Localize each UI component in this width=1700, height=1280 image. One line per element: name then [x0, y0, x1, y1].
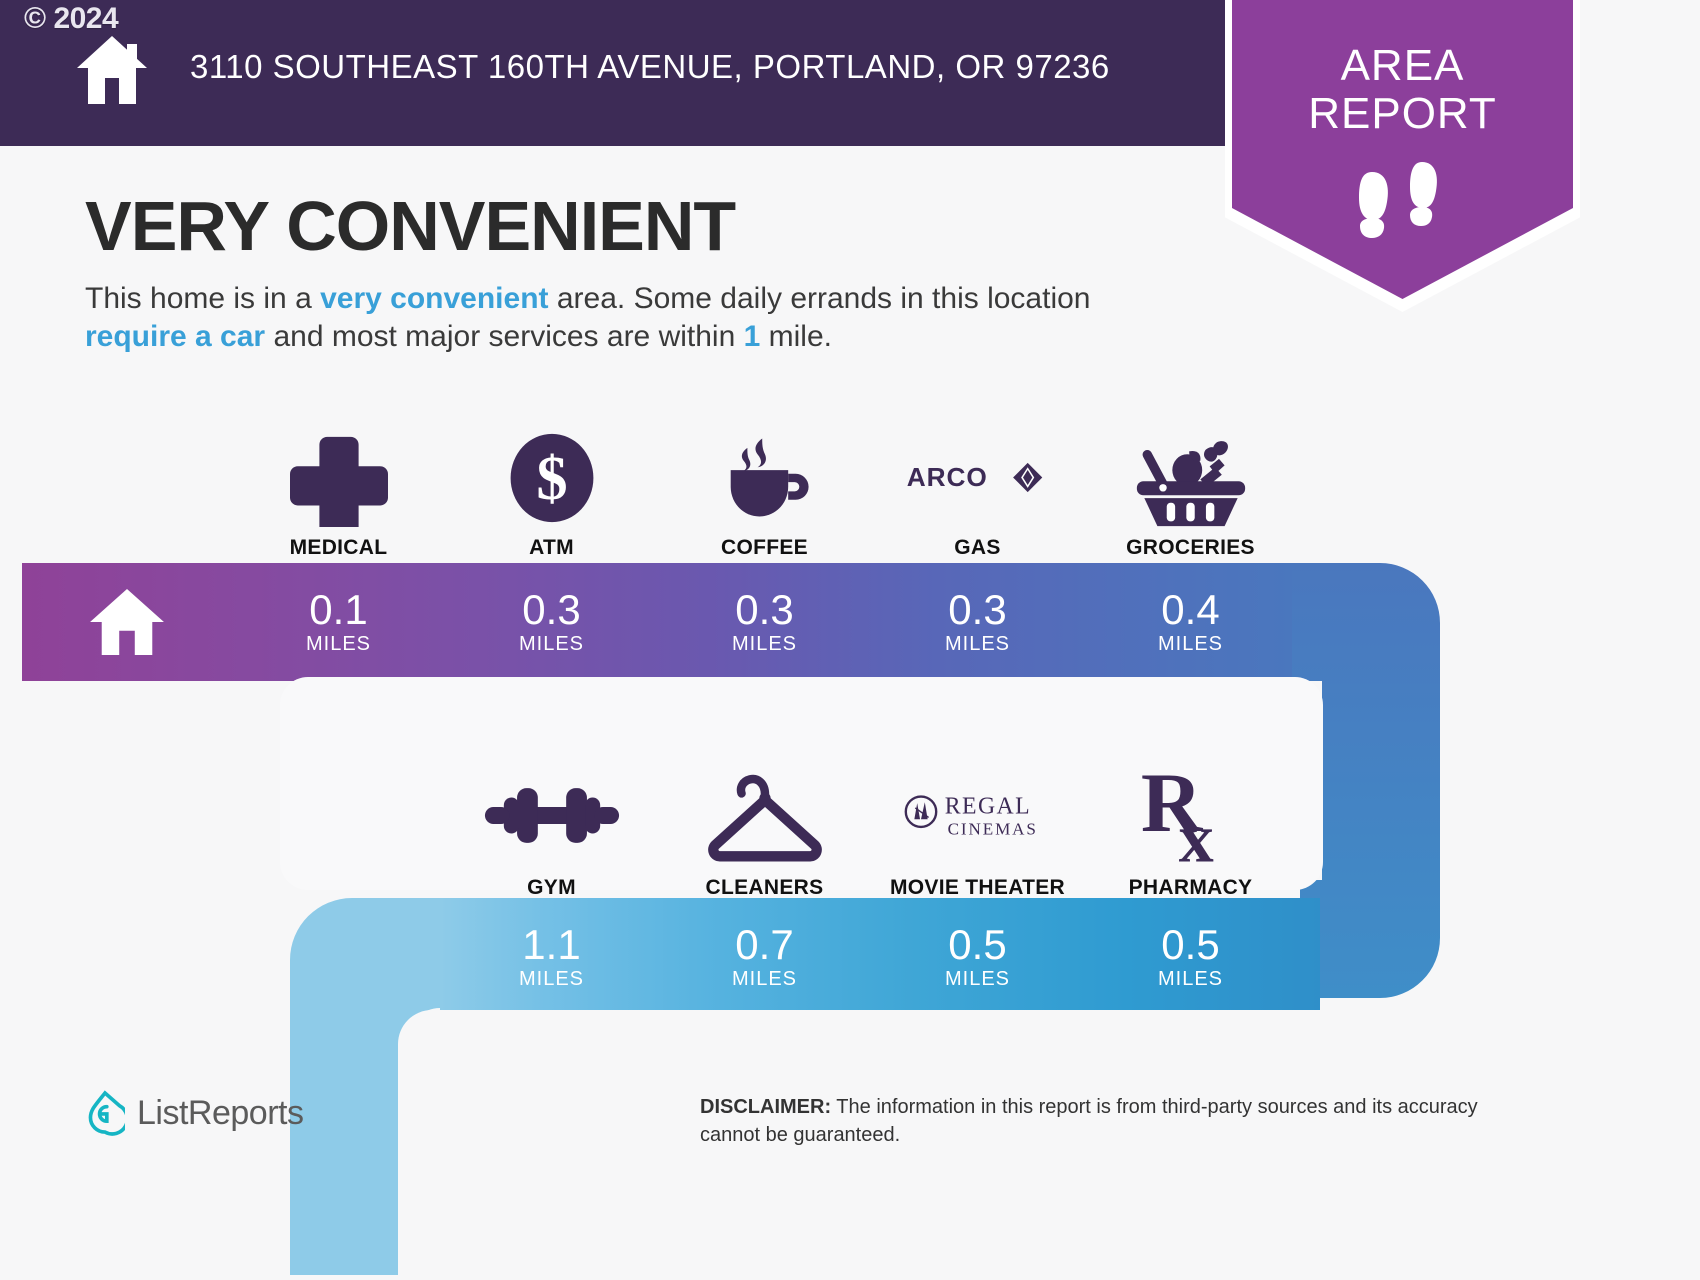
- amenity-label: MOVIE THEATER: [890, 876, 1065, 900]
- amenity-gym: GYM: [445, 735, 658, 900]
- badge-line1: AREA: [1232, 42, 1573, 90]
- amenity-label: GYM: [527, 876, 576, 900]
- amenity-atm: $ ATM: [445, 400, 658, 560]
- home-marker-segment: [22, 563, 232, 681]
- rx-pharmacy-icon: R x: [1084, 760, 1297, 870]
- distance-value: 0.1: [309, 589, 367, 631]
- listreports-wordmark: ListReports: [137, 1094, 303, 1133]
- coffee-cup-icon: [658, 425, 871, 530]
- amenity-cleaners: CLEANERS: [658, 735, 871, 900]
- amenity-label: GROCERIES: [1126, 536, 1255, 560]
- regal-cinemas-logo-icon: REGAL CINEMAS: [871, 760, 1084, 870]
- amenity-medical: MEDICAL: [232, 400, 445, 560]
- distance-unit: MILES: [519, 633, 584, 656]
- distance-medical: 0.1 MILES: [232, 563, 445, 681]
- amenity-pharmacy: R x PHARMACY: [1084, 735, 1297, 900]
- badge-line2: REPORT: [1232, 90, 1573, 138]
- arco-logo-icon: ARCO: [871, 425, 1084, 530]
- svg-text:x: x: [1178, 800, 1213, 867]
- svg-text:$: $: [536, 443, 567, 513]
- distance-value: 0.3: [735, 589, 793, 631]
- distance-value: 0.3: [522, 589, 580, 631]
- distance-movie-theater: 0.5 MILES: [871, 898, 1084, 1016]
- amenity-label: MEDICAL: [290, 536, 388, 560]
- listreports-pin-icon: [85, 1090, 125, 1136]
- distance-value: 1.1: [522, 924, 580, 966]
- distance-value: 0.3: [948, 589, 1006, 631]
- distance-groceries: 0.4 MILES: [1084, 563, 1297, 681]
- distance-atm: 0.3 MILES: [445, 563, 658, 681]
- svg-text:CINEMAS: CINEMAS: [947, 819, 1037, 838]
- distance-unit: MILES: [519, 968, 584, 991]
- amenity-label: CLEANERS: [706, 876, 824, 900]
- svg-text:REGAL: REGAL: [944, 793, 1030, 819]
- distance-unit: MILES: [732, 968, 797, 991]
- amenity-coffee: COFFEE: [658, 400, 871, 560]
- disclaimer: DISCLAIMER: The information in this repo…: [700, 1093, 1500, 1149]
- footprints-icon: [1340, 160, 1460, 250]
- distance-unit: MILES: [732, 633, 797, 656]
- distance-value: 0.7: [735, 924, 793, 966]
- distance-value: 0.4: [1161, 589, 1219, 631]
- amenity-gas: ARCO GAS: [871, 400, 1084, 560]
- area-report-badge-label: AREA REPORT: [1232, 42, 1573, 138]
- dumbbell-icon: [445, 760, 658, 870]
- grocery-basket-icon: [1084, 425, 1297, 530]
- distance-unit: MILES: [945, 633, 1010, 656]
- distance-value: 0.5: [1161, 924, 1219, 966]
- amenity-label: ATM: [529, 536, 574, 560]
- row1-icons: MEDICAL $ ATM COFFEE ARCO: [0, 400, 1489, 560]
- amenity-label: COFFEE: [721, 536, 808, 560]
- distance-unit: MILES: [1158, 633, 1223, 656]
- distance-gas: 0.3 MILES: [871, 563, 1084, 681]
- amenity-label: PHARMACY: [1129, 876, 1253, 900]
- amenity-movie-theater: REGAL CINEMAS MOVIE THEATER: [871, 735, 1084, 900]
- distance-gym: 1.1 MILES: [445, 898, 658, 1016]
- listreports-logo[interactable]: ListReports: [85, 1090, 303, 1136]
- distance-unit: MILES: [945, 968, 1010, 991]
- clothes-hanger-icon: [658, 760, 871, 870]
- distance-value: 0.5: [948, 924, 1006, 966]
- medical-cross-icon: [232, 425, 445, 530]
- distance-pharmacy: 0.5 MILES: [1084, 898, 1297, 1016]
- disclaimer-label: DISCLAIMER:: [700, 1096, 831, 1118]
- distance-unit: MILES: [1158, 968, 1223, 991]
- amenity-label: GAS: [954, 536, 1000, 560]
- row2-icons: GYM CLEANERS REGAL CINEMAS MOVIE THEATER: [0, 735, 1489, 900]
- distance-coffee: 0.3 MILES: [658, 563, 871, 681]
- home-icon: [88, 587, 166, 657]
- distance-unit: MILES: [306, 633, 371, 656]
- distance-cleaners: 0.7 MILES: [658, 898, 871, 1016]
- dollar-circle-icon: $: [445, 425, 658, 530]
- amenity-groceries: GROCERIES: [1084, 400, 1297, 560]
- svg-text:ARCO: ARCO: [906, 462, 987, 492]
